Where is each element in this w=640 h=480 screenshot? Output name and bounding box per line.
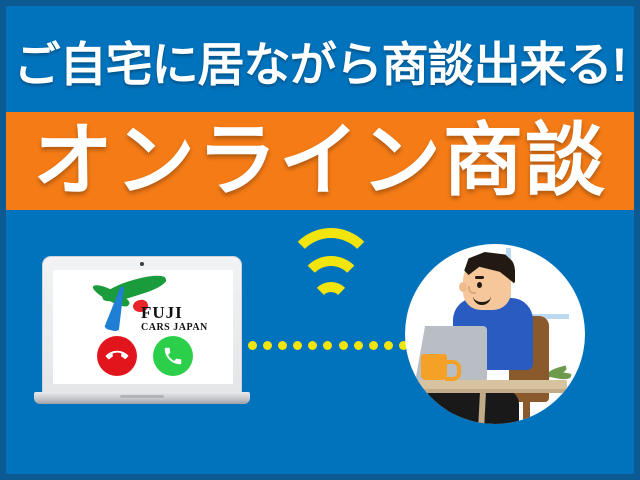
fuji-cars-japan-logo: FUJI CARS JAPAN <box>53 274 233 336</box>
plant-icon <box>547 366 573 378</box>
webcam-icon <box>140 262 144 266</box>
connection-dot <box>308 341 317 350</box>
desk-surface <box>407 380 567 389</box>
laptop-lid: FUJI CARS JAPAN <box>42 256 242 394</box>
connection-dot <box>323 341 332 350</box>
phone-hangup-icon <box>101 340 132 371</box>
connection-dot <box>384 341 393 350</box>
desk-edge <box>407 389 567 393</box>
banner-subtitle: オンライン商談 <box>33 119 607 203</box>
person-ear <box>459 282 467 292</box>
connection-dot <box>354 341 363 350</box>
wifi-arc-inner <box>311 282 351 322</box>
laptop-illustration: FUJI CARS JAPAN <box>34 256 250 416</box>
connection-dot <box>369 341 378 350</box>
connection-dot <box>263 341 272 350</box>
coffee-mug-handle <box>445 360 461 381</box>
logo-wordmark: FUJI CARS JAPAN <box>141 304 231 334</box>
connection-dot-line <box>248 340 408 350</box>
online-consultation-banner: ご自宅に居ながら商談出来る! オンライン商談 FUJI CARS JAPAN <box>0 0 640 480</box>
decline-call-button[interactable] <box>97 336 137 376</box>
laptop-screen: FUJI CARS JAPAN <box>53 270 233 384</box>
logo-brand-sub: CARS JAPAN <box>141 322 231 334</box>
accept-call-button[interactable] <box>153 336 193 376</box>
office-chair-leg <box>523 394 530 424</box>
connection-dot <box>339 341 348 350</box>
banner-subtitle-band: オンライン商談 <box>6 112 634 210</box>
person-shin <box>427 410 453 424</box>
person-eyebrow <box>475 276 484 279</box>
connection-dot <box>293 341 302 350</box>
connection-dot <box>248 341 257 350</box>
person-eye <box>477 282 482 288</box>
connection-dot <box>278 341 287 350</box>
phone-call-icon <box>162 345 184 367</box>
logo-brand-name: FUJI <box>141 304 231 322</box>
wifi-icon <box>281 250 361 314</box>
person-at-laptop-illustration <box>405 244 585 424</box>
laptop-base <box>34 392 250 404</box>
banner-headline: ご自宅に居ながら商談出来る! <box>6 24 634 96</box>
coffee-mug-icon <box>421 354 447 380</box>
call-button-row <box>53 336 233 380</box>
